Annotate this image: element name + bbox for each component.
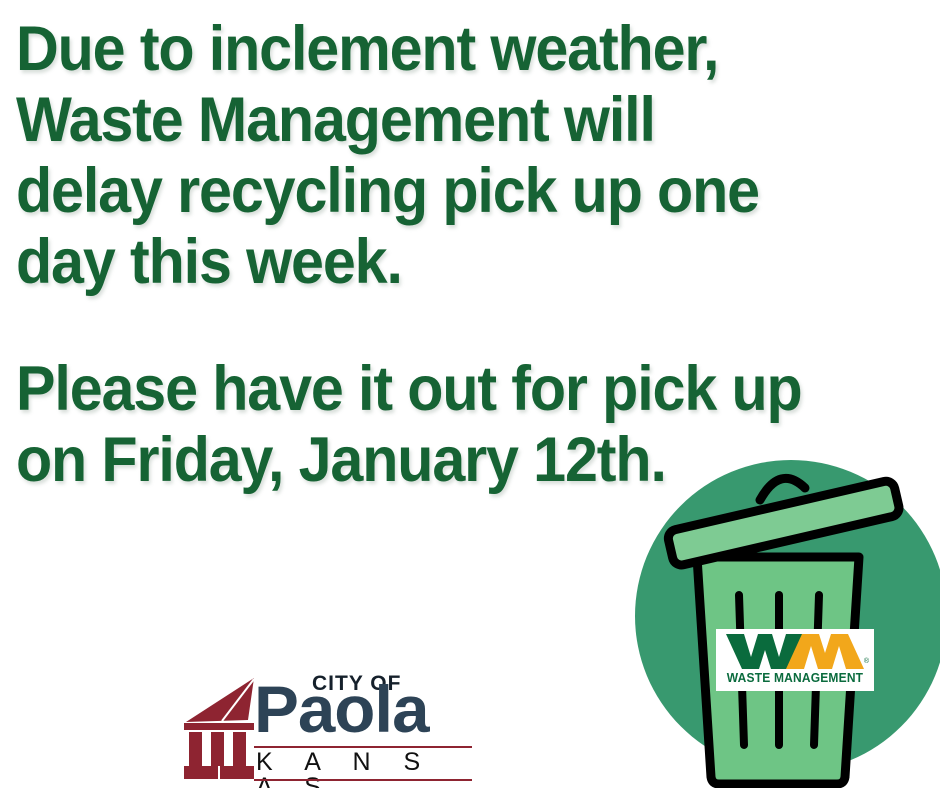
wm-wordmark: WASTE MANAGEMENT [719, 671, 871, 685]
rule-below-kansas [254, 779, 472, 781]
announcement-poster: Due to inclement weather, Waste Manageme… [0, 0, 940, 788]
headline-line-2: Waste Management will [16, 85, 873, 156]
paola-wordmark-block: CITY OF Paola K A N S A S [254, 672, 472, 784]
wm-monogram-icon [724, 632, 866, 670]
trash-can-illustration [620, 440, 940, 788]
headline-line-3: delay recycling pick up one [16, 156, 873, 227]
trash-can-icon [620, 440, 940, 788]
headline-line-5: Please have it out for pick up [16, 354, 873, 425]
kansas-label: K A N S A S [256, 750, 472, 788]
paragraph-spacer [16, 298, 928, 354]
city-of-paola-logo: CITY OF Paola K A N S A S [182, 672, 472, 784]
headline-line-4: day this week. [16, 227, 873, 298]
registered-trademark-icon: ® [864, 658, 869, 665]
headline-line-1: Due to inclement weather, [16, 14, 873, 85]
wm-logo: ® WASTE MANAGEMENT [716, 629, 874, 691]
announcement-text: Due to inclement weather, Waste Manageme… [16, 14, 928, 496]
paola-name: Paola [254, 676, 429, 742]
